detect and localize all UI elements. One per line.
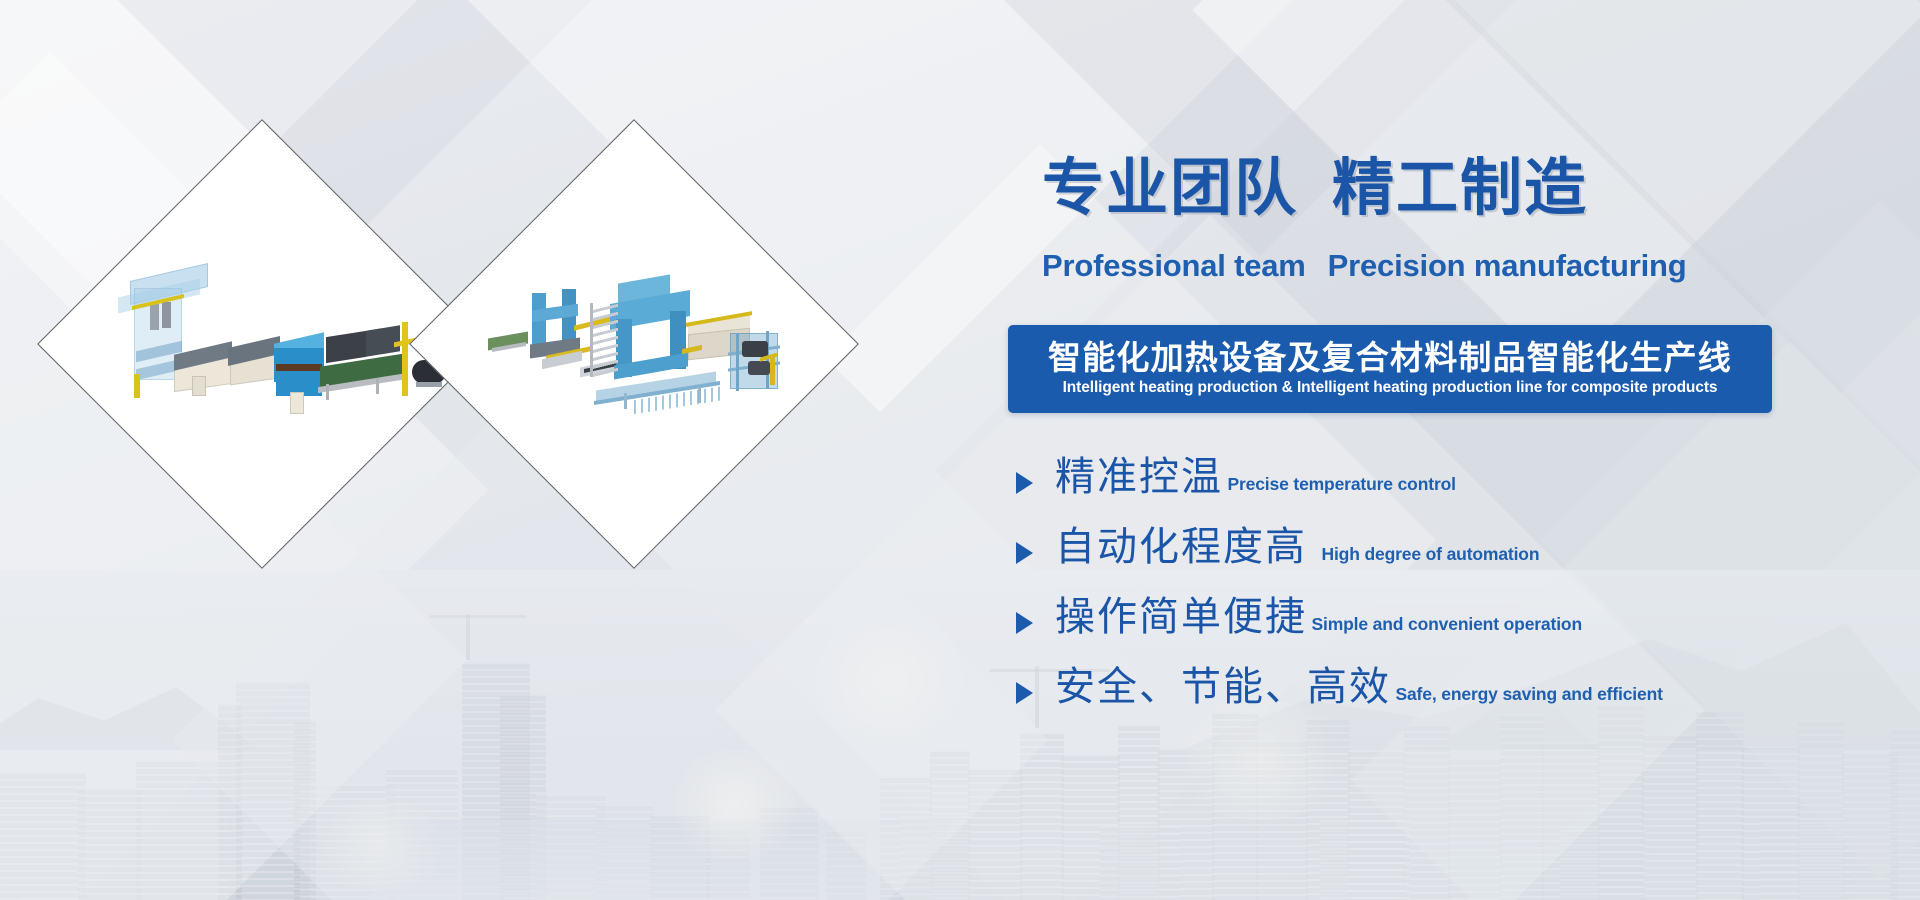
product-image-diamond-1-inner <box>104 186 420 502</box>
yellow-gantry-mast <box>402 322 408 396</box>
feature-item-2: 自动化程度高 High degree of automation <box>1016 526 1539 569</box>
intelligent-press-line-render <box>484 259 784 429</box>
page-title: 专业团队精工制造 <box>1042 158 1588 220</box>
headline-cn-1: 专业团队 <box>1042 154 1298 223</box>
headline-en-1: Professional team <box>1042 248 1306 283</box>
product-title-bar: 智能化加热设备及复合材料制品智能化生产线 Intelligent heating… <box>1008 325 1772 413</box>
feature-cn-3: 操作简单便捷 <box>1055 595 1307 639</box>
product-title-en: Intelligent heating production & Intelli… <box>1063 379 1718 398</box>
feature-text-2: 自动化程度高 High degree of automation <box>1055 526 1539 569</box>
conveyor-leg <box>624 393 627 409</box>
product-image-diamond-2-inner <box>476 186 792 502</box>
steel-column <box>766 331 769 389</box>
headline-cn-2: 精工制造 <box>1332 154 1588 223</box>
tank-base <box>416 382 442 387</box>
banner-stage: 专业团队精工制造 Professional teamPrecision manu… <box>0 0 1920 900</box>
press-rail <box>134 374 140 398</box>
oven-panel <box>192 376 206 396</box>
headline-en-2: Precision manufacturing <box>1328 248 1687 283</box>
feature-text-4: 安全、节能、高效 Safe, energy saving and efficie… <box>1055 666 1663 709</box>
feature-item-4: 安全、节能、高效 Safe, energy saving and efficie… <box>1016 666 1663 709</box>
composite-production-line-render <box>112 264 412 424</box>
feature-en-1: Precise temperature control <box>1227 474 1455 494</box>
feature-cn-1: 精准控温 <box>1055 455 1223 499</box>
steel-column <box>736 333 739 391</box>
triangle-right-icon <box>1016 542 1033 564</box>
feature-en-2: High degree of automation <box>1321 544 1539 564</box>
triangle-right-icon <box>1016 682 1033 704</box>
blue-press-slot <box>276 364 322 371</box>
feature-en-3: Simple and convenient operation <box>1311 614 1582 634</box>
access-stairs <box>592 304 618 380</box>
press-cylinder <box>150 304 159 330</box>
feature-text-1: 精准控温 Precise temperature control <box>1055 456 1456 499</box>
feature-item-3: 操作简单便捷 Simple and convenient operation <box>1016 596 1582 639</box>
conveyor-leg <box>376 378 379 394</box>
feature-en-4: Safe, energy saving and efficient <box>1395 684 1662 704</box>
press-cylinder <box>162 302 171 328</box>
banner-content: 专业团队精工制造 Professional teamPrecision manu… <box>1040 0 1920 900</box>
dark-unit <box>326 331 366 363</box>
feature-text-3: 操作简单便捷 Simple and convenient operation <box>1055 596 1582 639</box>
feature-cn-2: 自动化程度高 <box>1055 525 1307 569</box>
triangle-right-icon <box>1016 472 1033 494</box>
feature-cn-4: 安全、节能、高效 <box>1055 665 1391 709</box>
page-subtitle: Professional teamPrecision manufacturing <box>1042 250 1687 281</box>
triangle-right-icon <box>1016 612 1033 634</box>
stair-rail <box>590 303 593 377</box>
product-title-cn: 智能化加热设备及复合材料制品智能化生产线 <box>1048 341 1732 376</box>
dark-equipment <box>742 341 768 357</box>
dark-equipment <box>748 361 770 375</box>
feature-item-1: 精准控温 Precise temperature control <box>1016 456 1456 499</box>
control-cabinet <box>290 392 304 414</box>
conveyor-leg <box>326 384 329 400</box>
robot-arm <box>770 355 775 385</box>
conveyor-leg <box>698 387 701 403</box>
